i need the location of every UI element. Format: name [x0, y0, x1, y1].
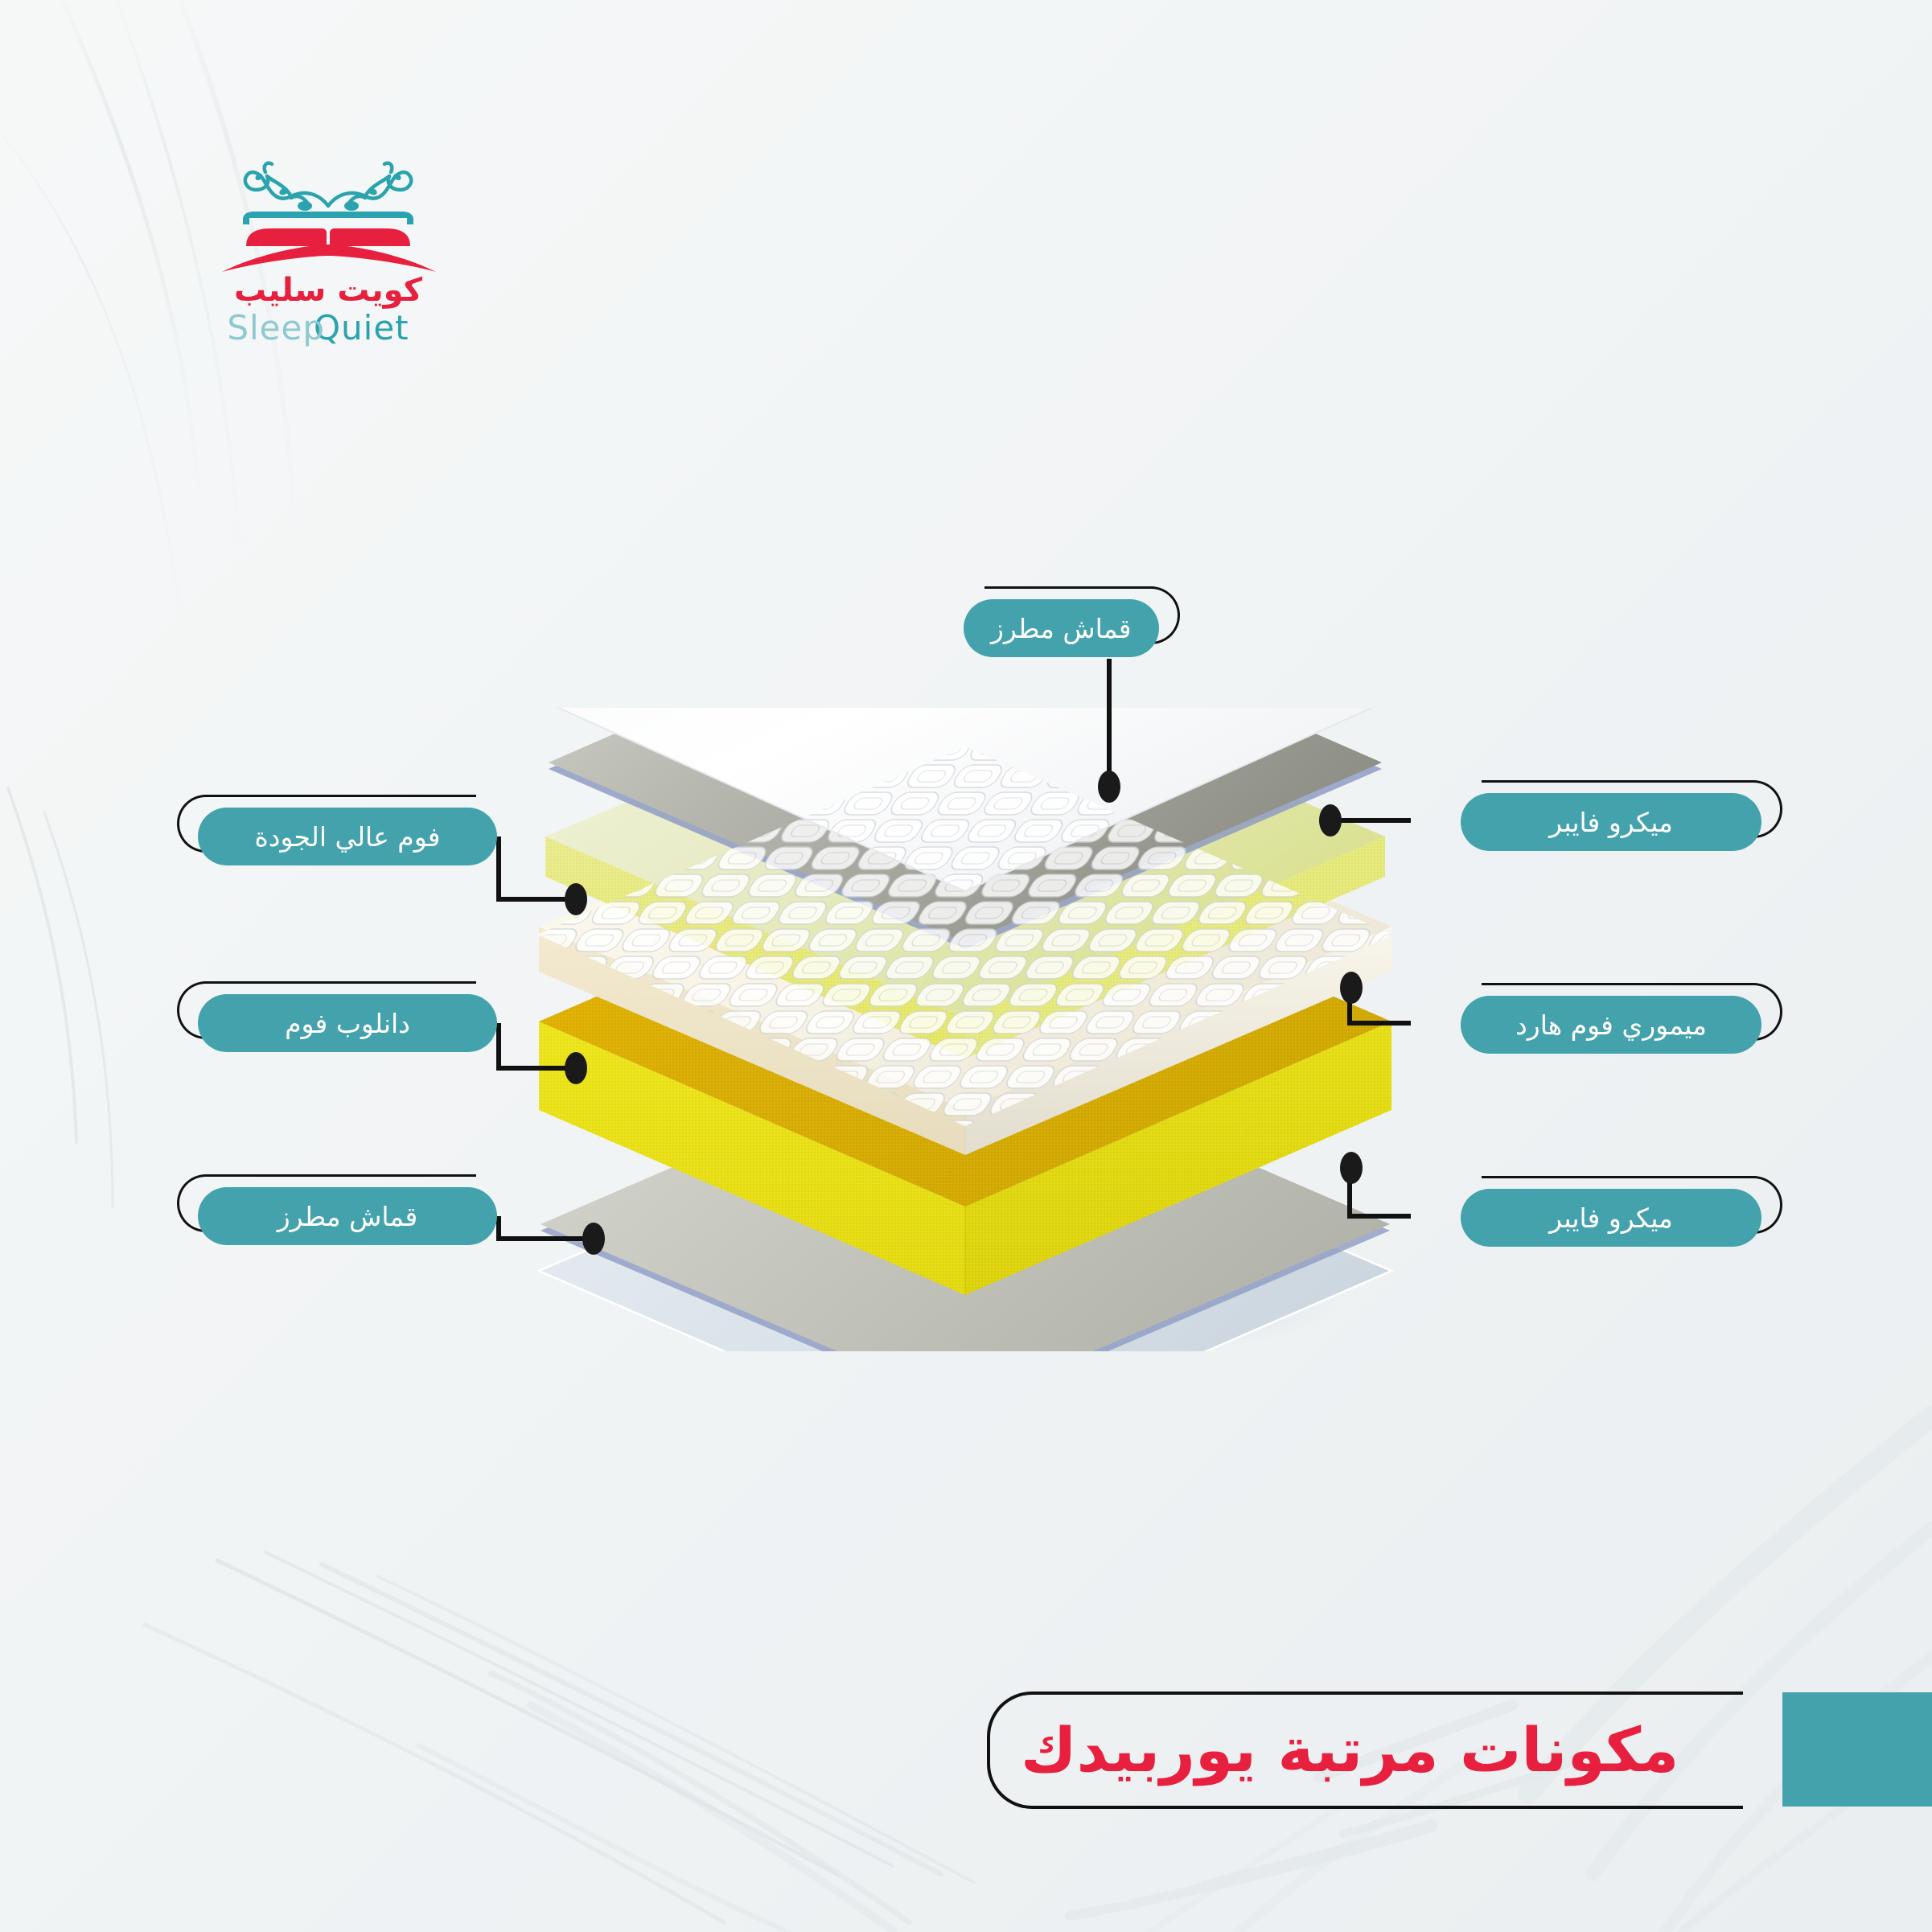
logo-latin-sleep: Sleep [227, 308, 325, 347]
label-left-high-quality-foam[interactable]: فوم عالي الجودة [198, 808, 497, 865]
label-text: ميكرو فايبر [1549, 807, 1673, 838]
label-left-dunlop-foam[interactable]: دانلوب فوم [198, 994, 497, 1052]
mattress-exploded-diagram [483, 708, 1448, 1351]
label-right-microfiber-top[interactable]: ميكرو فايبر [1461, 793, 1761, 851]
pillow-right [330, 228, 410, 246]
label-pill[interactable]: دانلوب فوم [198, 994, 497, 1052]
label-text: ميكرو فايبر [1549, 1202, 1673, 1234]
brand-logo: كويت سليب Quiet Sleep [208, 143, 449, 352]
label-pill[interactable]: ميكرو فايبر [1461, 1189, 1761, 1247]
label-text: ميموري فوم هارد [1515, 1009, 1707, 1041]
label-text: فوم عالي الجودة [254, 821, 440, 853]
mattress-sweep [222, 245, 436, 272]
accent-block [1782, 1692, 1932, 1807]
page-title: مكونات مرتبة يوربيدك [1009, 1709, 1687, 1791]
label-text: قماش مطرز [991, 613, 1132, 644]
label-pill[interactable]: ميكرو فايبر [1461, 793, 1761, 851]
label-pill[interactable]: فوم عالي الجودة [198, 808, 497, 865]
label-text: دانلوب فوم [285, 1008, 410, 1039]
pillow-left [246, 228, 327, 246]
label-right-memory-foam-hard[interactable]: ميموري فوم هارد [1461, 996, 1761, 1054]
label-right-microfiber-bottom[interactable]: ميكرو فايبر [1461, 1189, 1761, 1247]
logo-arabic-text: كويت سليب [234, 272, 423, 309]
label-top-embroidered-fabric[interactable]: قماش مطرز [964, 599, 1159, 657]
filigree-ornament [245, 163, 411, 206]
label-pill[interactable]: قماش مطرز [198, 1187, 497, 1245]
label-pill[interactable]: قماش مطرز [964, 599, 1159, 657]
label-left-embroidered-fabric[interactable]: قماش مطرز [198, 1187, 497, 1245]
label-pill[interactable]: ميموري فوم هارد [1461, 996, 1761, 1054]
page-title-banner: مكونات مرتبة يوربيدك [1009, 1709, 1687, 1791]
logo-latin-quiet: Quiet [314, 308, 409, 347]
label-text: قماش مطرز [277, 1201, 418, 1232]
headboard-bar [243, 212, 413, 224]
